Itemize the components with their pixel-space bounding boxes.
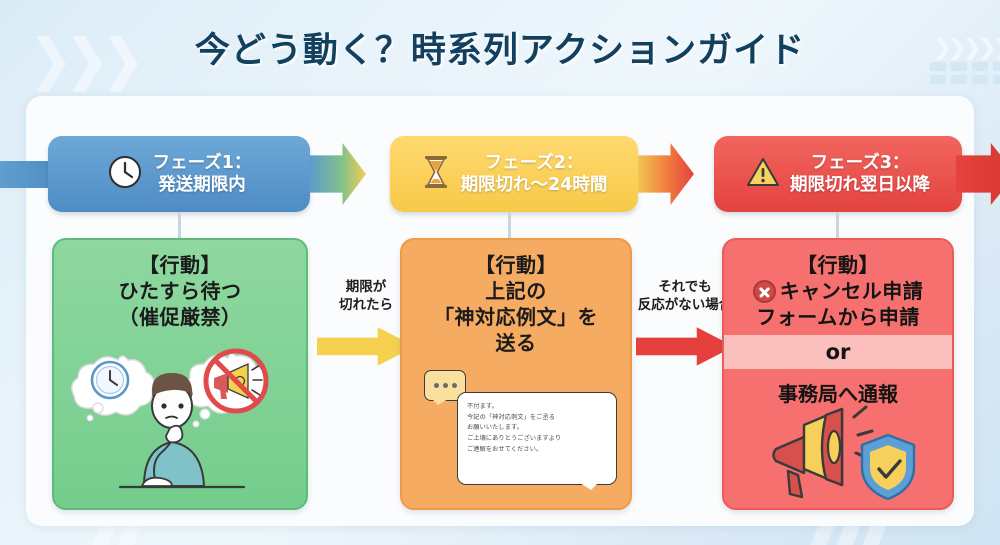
- stem-connector-3: [836, 212, 839, 240]
- block-decor: [930, 75, 946, 84]
- arrow-right-red-icon: [636, 326, 734, 366]
- phase-header-2-label: フェーズ2： 期限切れ〜24時間: [461, 152, 608, 196]
- card-2-heading: 【行動】: [475, 253, 557, 277]
- connector-1-line2: 切れたら: [339, 297, 393, 313]
- connector-1-line1: 期限が: [346, 279, 387, 295]
- phase-header-1-label: フェーズ1： 発送期限内: [153, 152, 252, 196]
- person-waiting-illustration: [60, 346, 304, 504]
- phase-header-3[interactable]: フェーズ3： 期限切れ翌日以降: [714, 136, 962, 212]
- card-1-heading: 【行動】: [139, 253, 221, 277]
- typing-dot: [443, 383, 448, 388]
- phase-header-3-label: フェーズ3： 期限切れ翌日以降: [790, 152, 930, 196]
- message-line-3: お願いいたします。: [467, 423, 608, 434]
- infographic-canvas: 今どう動く？時系列アクションガイド フェーズ1： 発送期限内: [0, 0, 1000, 545]
- message-bubble: 不付ます。 今記の「神対応例文」をご丞る お願いいたします。 ご上壤にありとうご…: [457, 392, 617, 485]
- thought-bubble-clock: [72, 356, 154, 421]
- phase-header-1[interactable]: フェーズ1： 発送期限内: [48, 136, 310, 212]
- phase-1-line2: 発送期限内: [158, 175, 246, 195]
- shield-check-icon: [862, 435, 914, 499]
- connector-2-line2: 反応がない場合: [638, 297, 733, 313]
- card-3-heading: 【行動】: [797, 253, 879, 277]
- hourglass-icon: [421, 154, 451, 194]
- message-line-1: 不付ます。: [467, 402, 608, 413]
- phase-2-line1: フェーズ2：: [485, 153, 584, 173]
- phase-2-line2: 期限切れ〜24時間: [461, 175, 608, 195]
- person-figure: [120, 373, 244, 487]
- stem-connector-1: [178, 212, 181, 240]
- stem-connector-2: [508, 212, 511, 240]
- message-line-4: ご上壤にありとうございますより: [467, 434, 608, 445]
- or-divider: or: [724, 335, 952, 369]
- message-line-5: ご連解をおせてください。: [467, 445, 608, 456]
- card-3-line3: フォームから申請: [756, 305, 919, 329]
- action-card-1[interactable]: 【行動】 ひたすら待つ （催促厳禁）: [52, 238, 308, 510]
- connector-2-line1: それでも: [658, 279, 712, 295]
- typing-dot: [452, 383, 457, 388]
- typing-dot: [434, 383, 439, 388]
- card-3-line2: キャンセル申請: [780, 279, 924, 303]
- warning-triangle-icon: [746, 156, 780, 192]
- card-2-line2: 上記の: [485, 279, 547, 303]
- megaphone-shield-illustration: [766, 405, 922, 505]
- action-card-2-title: 【行動】 上記の 「神対応例文」を 送る: [402, 240, 630, 356]
- page-title: 今どう動く？時系列アクションガイド: [0, 22, 1000, 73]
- card-1-line2: ひたすら待つ: [119, 279, 242, 303]
- thought-bubble-no-megaphone: [184, 351, 266, 427]
- message-line-2: 今記の「神対応例文」をご丞る: [467, 413, 608, 424]
- card-3-line4: 事務局へ通報: [724, 369, 952, 407]
- block-decor: [972, 75, 988, 84]
- phase-header-2[interactable]: フェーズ2： 期限切れ〜24時間: [390, 136, 638, 212]
- phase-1-line1: フェーズ1：: [153, 153, 252, 173]
- action-card-2[interactable]: 【行動】 上記の 「神対応例文」を 送る 不付ます。 今記の「神対応例文」をご丞…: [400, 238, 632, 510]
- megaphone-icon: [774, 407, 873, 497]
- x-circle-icon: [753, 280, 776, 303]
- action-card-3-title: 【行動】 キャンセル申請 フォームから申請: [724, 240, 952, 330]
- phase-3-line2: 期限切れ翌日以降: [790, 175, 930, 195]
- block-decor: [993, 75, 1000, 84]
- action-card-1-title: 【行動】 ひたすら待つ （催促厳禁）: [54, 240, 306, 330]
- card-1-line3: （催促厳禁）: [119, 305, 242, 329]
- phase-3-line1: フェーズ3：: [811, 153, 910, 173]
- action-card-3[interactable]: 【行動】 キャンセル申請 フォームから申請 or 事務局へ通報: [722, 238, 954, 510]
- card-2-line3: 「神対応例文」を: [434, 305, 598, 329]
- clock-icon: [107, 154, 143, 194]
- block-decor: [951, 75, 967, 84]
- card-2-line4: 送る: [496, 331, 537, 355]
